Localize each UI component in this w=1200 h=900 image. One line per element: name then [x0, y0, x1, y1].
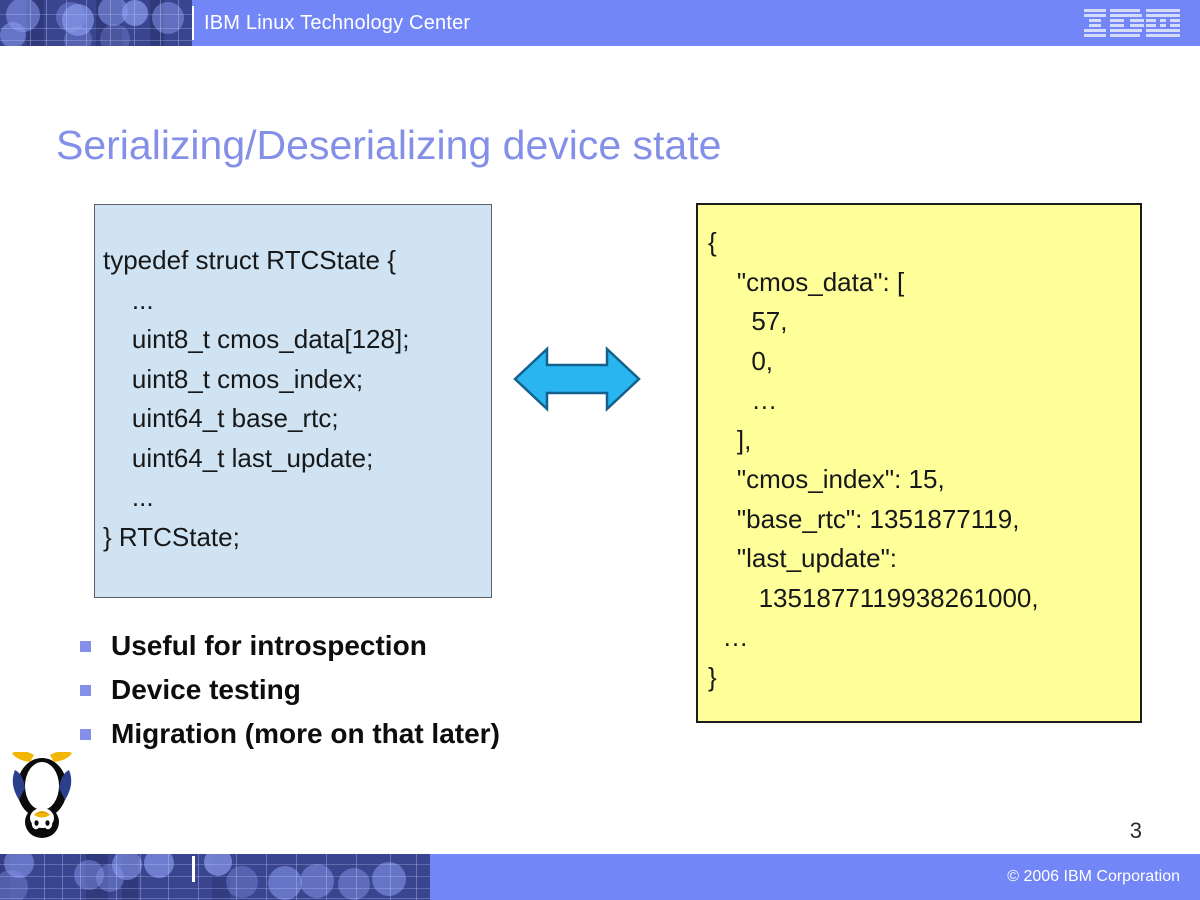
header-bar: IBM Linux Technology Center	[0, 0, 1200, 46]
footer-copyright: © 2006 IBM Corporation	[1007, 868, 1180, 886]
json-output-text: { "cmos_data": [ 57, 0, … ], "cmos_index…	[708, 223, 1142, 697]
footer-decorative-texture	[0, 854, 430, 900]
slide-title: Serializing/Deserializing device state	[56, 122, 721, 169]
tux-penguin-icon	[6, 752, 78, 846]
page-number: 3	[1130, 818, 1142, 844]
header-decorative-texture	[0, 0, 192, 46]
list-item: Device testing	[80, 668, 700, 712]
square-bullet-icon	[80, 729, 91, 740]
list-item: Migration (more on that later)	[80, 712, 700, 756]
footer-bar: © 2006 IBM Corporation	[0, 854, 1200, 900]
benefits-bullet-list: Useful for introspection Device testing …	[80, 624, 700, 756]
footer-divider	[192, 856, 195, 882]
square-bullet-icon	[80, 685, 91, 696]
list-item-label: Device testing	[111, 674, 301, 706]
json-output-box: { "cmos_data": [ 57, 0, … ], "cmos_index…	[696, 203, 1142, 723]
list-item: Useful for introspection	[80, 624, 700, 668]
c-struct-code-box: typedef struct RTCState { ... uint8_t cm…	[94, 204, 492, 598]
ibm-logo-icon	[1082, 7, 1182, 39]
list-item-label: Migration (more on that later)	[111, 718, 500, 750]
square-bullet-icon	[80, 641, 91, 652]
header-title: IBM Linux Technology Center	[204, 12, 470, 35]
header-divider	[192, 6, 194, 40]
c-struct-code-text: typedef struct RTCState { ... uint8_t cm…	[103, 241, 492, 557]
list-item-label: Useful for introspection	[111, 630, 427, 662]
bidirectional-arrow-icon	[513, 345, 641, 413]
